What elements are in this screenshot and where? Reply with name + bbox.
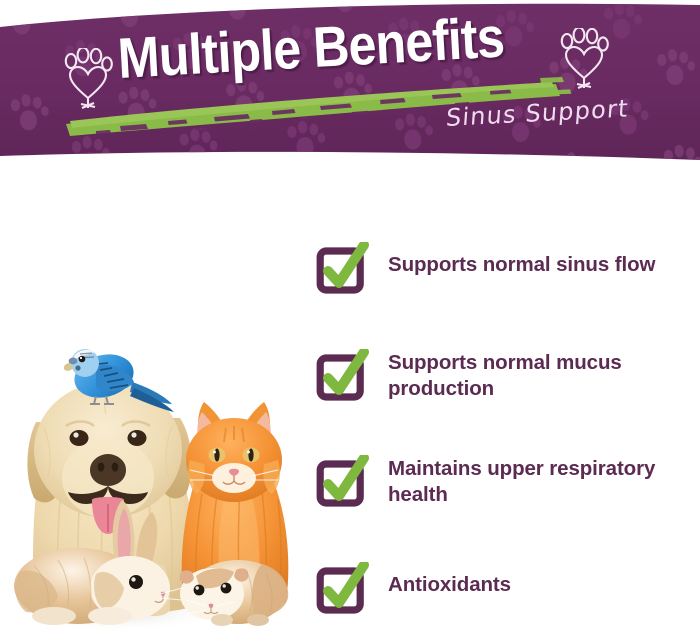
benefit-label: Supports normal mucus production: [388, 350, 700, 402]
checkbox-checked-icon[interactable]: [316, 455, 372, 507]
checkbox-checked-icon[interactable]: [316, 242, 372, 294]
list-item: Supports normal sinus flow: [312, 236, 700, 328]
benefit-label: Maintains upper respiratory health: [388, 456, 700, 508]
checkbox-checked-icon[interactable]: [316, 349, 372, 401]
list-item: Maintains upper respiratory health: [312, 449, 700, 541]
header-banner: Multiple Benefits Sinus Support: [0, 0, 700, 175]
paw-heart-icon: [62, 48, 114, 110]
pet-photo: [0, 160, 330, 643]
paw-heart-icon: [558, 28, 610, 90]
benefit-label: Antioxidants: [388, 572, 700, 598]
list-item: Antioxidants: [312, 556, 700, 643]
benefits-list: Supports normal sinus flow Supports norm…: [312, 236, 700, 604]
benefit-label: Supports normal sinus flow: [388, 252, 700, 278]
benefits-infographic: Multiple Benefits Sinus Support: [0, 0, 700, 643]
list-item: Supports normal mucus production: [312, 343, 700, 435]
checkbox-checked-icon[interactable]: [316, 562, 372, 614]
